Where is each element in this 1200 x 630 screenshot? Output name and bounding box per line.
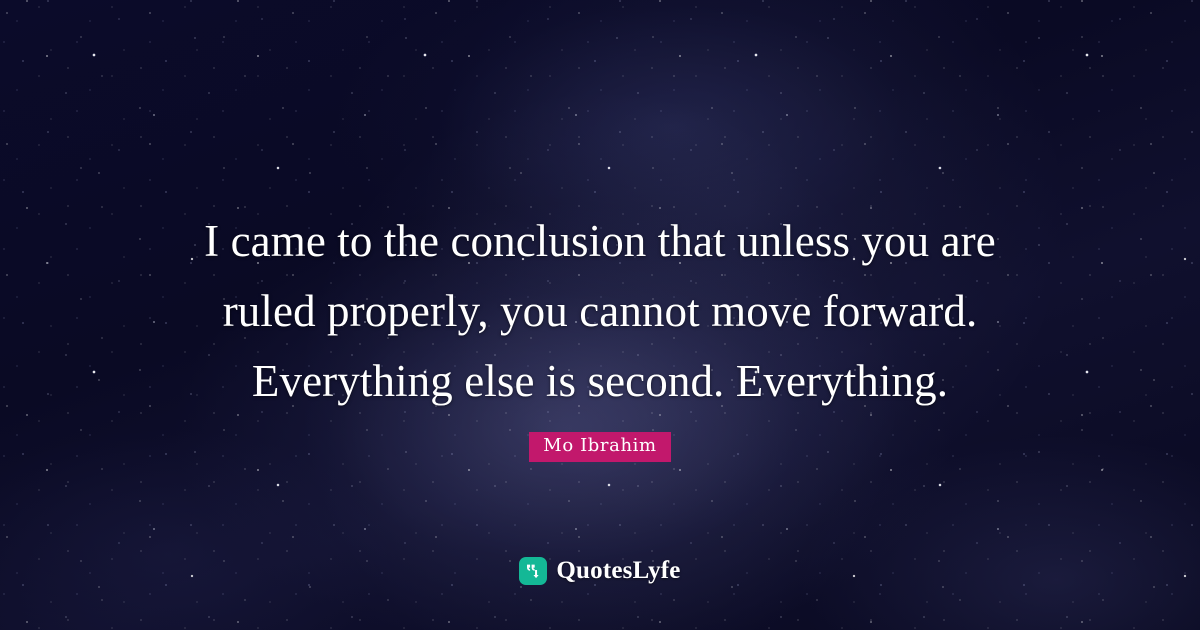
quote-line-2: ruled properly, you cannot move forward. xyxy=(90,276,1110,346)
quote-poster: I came to the conclusion that unless you… xyxy=(0,0,1200,630)
poster-content: I came to the conclusion that unless you… xyxy=(0,0,1200,630)
brand-logo[interactable]: QuotesLyfe xyxy=(0,557,1200,585)
brand-name-text: QuotesLyfe xyxy=(556,557,680,585)
quote-text: I came to the conclusion that unless you… xyxy=(0,206,1200,416)
quote-line-3: Everything else is second. Everything. xyxy=(90,346,1110,416)
author-name-badge[interactable]: Mo Ibrahim xyxy=(529,432,670,462)
quote-marks-icon xyxy=(519,557,547,585)
author-badge-container: Mo Ibrahim xyxy=(0,432,1200,462)
quote-line-1: I came to the conclusion that unless you… xyxy=(90,206,1110,276)
